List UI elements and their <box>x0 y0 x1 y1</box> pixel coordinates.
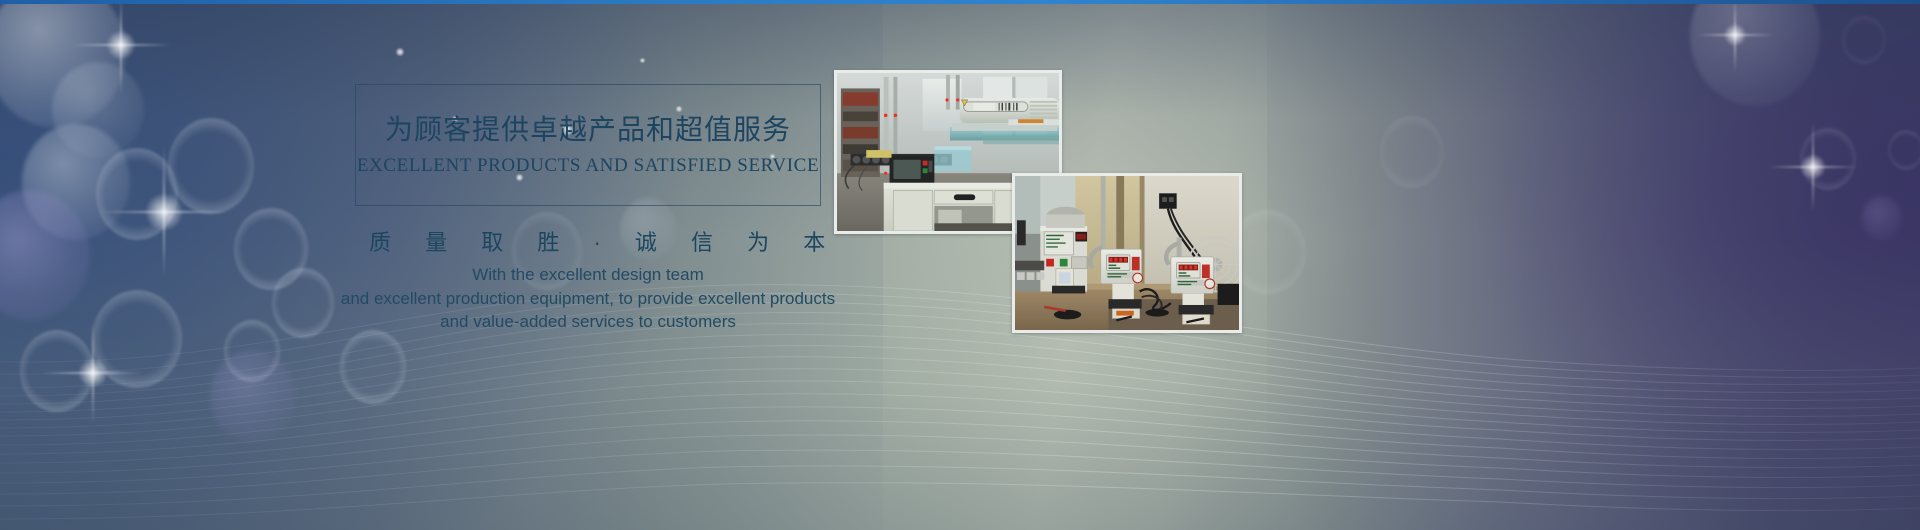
description-paragraph: With the excellent design team and excel… <box>280 263 896 334</box>
description-line-3: and value-added services to customers <box>280 310 896 334</box>
headline-english: EXCELLENT PRODUCTS AND SATISFIED SERVICE <box>355 155 821 177</box>
slogan-chinese: 质 量 取 胜 · 诚 信 为 本 <box>355 225 821 257</box>
headline-chinese: 为顾客提供卓越产品和超值服务 <box>355 108 821 148</box>
description-line-2: and excellent production equipment, to p… <box>280 287 896 311</box>
description-line-1: With the excellent design team <box>280 263 896 287</box>
top-accent-rule <box>0 0 1920 4</box>
promo-banner: 为顾客提供卓越产品和超值服务 EXCELLENT PRODUCTS AND SA… <box>0 0 1920 530</box>
workshop-press-machines-photo <box>1012 173 1242 333</box>
